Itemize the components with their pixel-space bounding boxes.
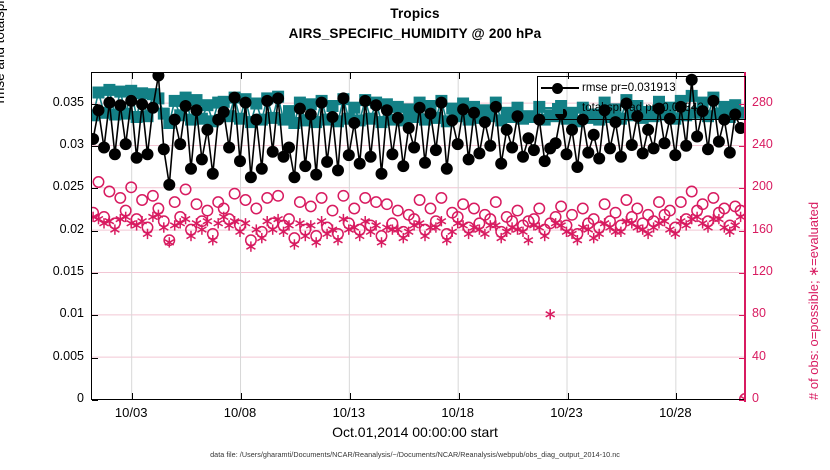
y-tick-left — [92, 315, 98, 316]
y-axis-right-tick-label: 240 — [752, 137, 773, 151]
y-tick-left — [92, 273, 98, 274]
y-tick-right — [739, 146, 745, 147]
y-tick-left — [92, 358, 98, 359]
x-tick — [459, 393, 460, 399]
x-tick-top — [350, 73, 351, 79]
y-axis-right-tick-label: 200 — [752, 179, 773, 193]
legend-marker-totalspread — [538, 99, 582, 117]
x-tick — [132, 393, 133, 399]
y-tick-left — [92, 146, 98, 147]
x-tick — [676, 393, 677, 399]
x-tick — [350, 393, 351, 399]
square-icon — [552, 103, 563, 114]
x-axis-tick-label: 10/18 — [418, 405, 498, 420]
x-tick-top — [132, 73, 133, 79]
y-tick-right — [739, 231, 745, 232]
plot-area — [91, 72, 746, 400]
x-axis-tick-label: 10/23 — [527, 405, 607, 420]
x-tick-top — [241, 73, 242, 79]
x-axis-tick-label: 10/08 — [200, 405, 280, 420]
y-tick-right — [739, 400, 745, 401]
y-tick-right — [739, 273, 745, 274]
y-axis-left-tick-label: 0.025 — [0, 179, 84, 193]
y-axis-left-tick-label: 0.015 — [0, 264, 84, 278]
legend-item-rmse[interactable]: rmse pr=0.031913 — [538, 78, 676, 98]
legend-label-rmse: rmse pr=0.031913 — [582, 82, 676, 94]
y-axis-right-title: # of obs: o=possible; ∗=evaluated — [806, 70, 822, 400]
y-tick-right — [739, 188, 745, 189]
y-axis-right-tick-label: 80 — [752, 306, 766, 320]
y-axis-right-tick-label: 120 — [752, 264, 773, 278]
data-file-footnote: data file: /Users/gharamti/Documents/NCA… — [0, 450, 830, 459]
y-tick-left — [92, 188, 98, 189]
y-tick-left — [92, 231, 98, 232]
y-axis-left-title: rmse and totalspread — [0, 0, 7, 150]
y-tick-left — [92, 400, 98, 401]
legend-item-totalspread[interactable]: total spread pr=0.03342 — [538, 98, 704, 118]
x-axis-tick-label: 10/13 — [309, 405, 389, 420]
data-layer — [92, 73, 745, 399]
chart-title-block: Tropics AIRS_SPECIFIC_HUMIDITY @ 200 hPa — [0, 6, 830, 42]
y-axis-left-tick-label: 0.035 — [0, 95, 84, 109]
chart-legend[interactable]: rmse pr=0.031913 total spread pr=0.03342 — [537, 76, 746, 120]
x-axis-tick-label: 10/28 — [635, 405, 715, 420]
page-title: Tropics — [0, 6, 830, 22]
y-axis-left-tick-label: 0 — [0, 391, 84, 405]
legend-marker-rmse — [538, 79, 582, 97]
y-axis-left-tick-label: 0.005 — [0, 349, 84, 363]
x-tick — [568, 393, 569, 399]
y-axis-right-tick-label: 40 — [752, 349, 766, 363]
y-axis-right-tick-label: 160 — [752, 222, 773, 236]
y-axis-left-tick-label: 0.01 — [0, 306, 84, 320]
y-axis-right-tick-label: 280 — [752, 95, 773, 109]
y-axis-right-tick-label: 0 — [752, 391, 759, 405]
y-tick-right — [739, 358, 745, 359]
y-axis-left-tick-label: 0.02 — [0, 222, 84, 236]
right-axis-spine — [744, 72, 746, 402]
chart-page: Tropics AIRS_SPECIFIC_HUMIDITY @ 200 hPa… — [0, 0, 830, 470]
chart-subtitle: AIRS_SPECIFIC_HUMIDITY @ 200 hPa — [0, 25, 830, 42]
x-tick — [241, 393, 242, 399]
circle-icon — [552, 83, 563, 94]
x-tick-top — [459, 73, 460, 79]
plot-canvas — [92, 73, 745, 399]
y-tick-left — [92, 104, 98, 105]
x-axis-tick-label: 10/03 — [91, 405, 171, 420]
y-tick-right — [739, 315, 745, 316]
legend-label-totalspread: total spread pr=0.03342 — [582, 102, 704, 114]
x-axis-title: Oct.01,2014 00:00:00 start — [0, 424, 830, 440]
y-axis-left-tick-label: 0.03 — [0, 137, 84, 151]
